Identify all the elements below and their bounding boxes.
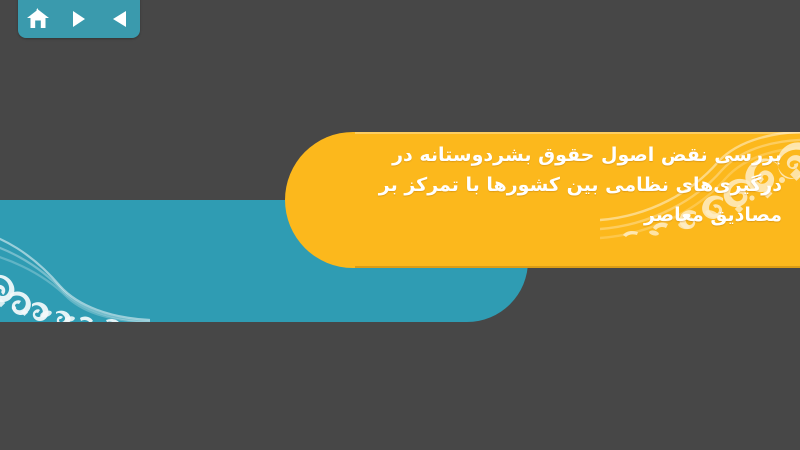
slide-title: بررسی نقض اصول حقوق بشردوستانه در درگیری… xyxy=(312,140,782,230)
triangle-left-icon xyxy=(111,9,129,29)
slide-navigation-bar xyxy=(18,0,140,38)
arabesque-ornament-teal xyxy=(0,200,150,322)
title-line-3: مصادیق معاصر xyxy=(312,200,782,230)
title-line-1: بررسی نقض اصول حقوق بشردوستانه در xyxy=(312,140,782,170)
title-line-2: درگیری‌های نظامی بین کشورها با تمرکز بر xyxy=(312,170,782,200)
triangle-right-icon xyxy=(71,9,87,29)
home-slide-button[interactable] xyxy=(23,5,53,33)
panel-top-edge xyxy=(355,132,800,134)
next-slide-button[interactable] xyxy=(64,5,94,33)
panel-bottom-edge xyxy=(355,266,800,268)
home-icon xyxy=(26,8,50,30)
previous-slide-button[interactable] xyxy=(105,5,135,33)
presentation-slide: بررسی نقض اصول حقوق بشردوستانه در درگیری… xyxy=(0,0,800,450)
